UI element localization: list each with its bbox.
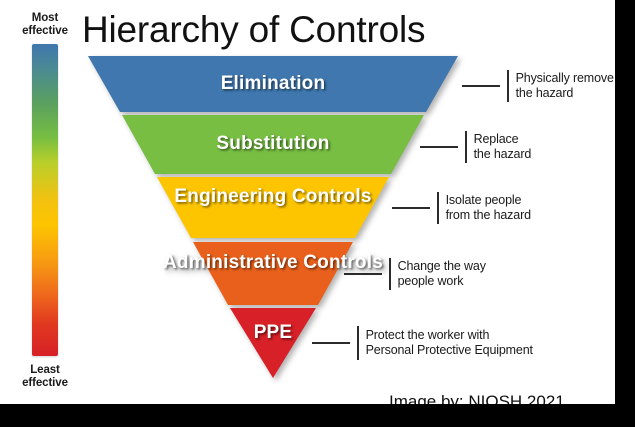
scale-label-least-effective: Least effective bbox=[14, 364, 76, 390]
gradient-scale-icon bbox=[32, 44, 58, 356]
leader-line-icon bbox=[392, 207, 430, 208]
leader-line-icon bbox=[312, 342, 350, 343]
leader-line-icon bbox=[420, 146, 458, 147]
pyramid-layer-substitution-label: Substitution bbox=[88, 133, 458, 155]
pyramid-layer-elimination[interactable]: Elimination bbox=[88, 56, 458, 112]
annotation-ppe-line2: Personal Protective Equipment bbox=[366, 343, 533, 358]
annotation-administrative-controls-line1: Change the way bbox=[398, 259, 486, 274]
pyramid-layer-engineering-controls-label-line2: Controls bbox=[292, 186, 372, 207]
figure-plate: Hierarchy of Controls Most effective Lea… bbox=[0, 0, 615, 404]
pyramid-layer-substitution-label-line1: Substitution bbox=[216, 133, 329, 154]
annotation-ppe: Protect the worker with Personal Protect… bbox=[312, 326, 533, 360]
page-title: Hierarchy of Controls bbox=[82, 9, 425, 51]
annotation-administrative-controls-text: Change the way people work bbox=[398, 259, 486, 289]
annotation-bar-icon bbox=[357, 326, 359, 360]
scale-label-least-effective-line2: effective bbox=[22, 377, 68, 389]
leader-line-icon bbox=[462, 85, 500, 86]
annotation-substitution-line1: Replace bbox=[474, 132, 532, 147]
figure-canvas: Hierarchy of Controls Most effective Lea… bbox=[0, 0, 635, 427]
annotation-engineering-controls: Isolate people from the hazard bbox=[392, 192, 531, 224]
image-credit: Image by: NIOSH 2021 bbox=[389, 392, 565, 404]
letterbox-bar-bottom bbox=[0, 404, 635, 427]
annotation-engineering-controls-text: Isolate people from the hazard bbox=[446, 193, 531, 223]
annotation-engineering-controls-line1: Isolate people bbox=[446, 193, 531, 208]
leader-line-icon bbox=[344, 273, 382, 274]
scale-label-most-effective: Most effective bbox=[14, 12, 76, 38]
pyramid-layer-elimination-label: Elimination bbox=[88, 73, 458, 95]
annotation-administrative-controls: Change the way people work bbox=[344, 258, 486, 290]
scale-label-most-effective-line2: effective bbox=[22, 25, 68, 37]
annotation-administrative-controls-line2: people work bbox=[398, 274, 486, 289]
annotation-substitution: Replace the hazard bbox=[420, 131, 531, 163]
pyramid-layer-engineering-controls-label-line1: Engineering bbox=[174, 186, 286, 207]
scale-label-most-effective-line1: Most bbox=[32, 12, 58, 24]
annotation-elimination: Physically remove the hazard bbox=[462, 70, 614, 102]
annotation-ppe-text: Protect the worker with Personal Protect… bbox=[366, 328, 533, 358]
annotation-substitution-text: Replace the hazard bbox=[474, 132, 532, 162]
annotation-bar-icon bbox=[507, 70, 509, 102]
annotation-substitution-line2: the hazard bbox=[474, 147, 532, 162]
annotation-elimination-text: Physically remove the hazard bbox=[516, 71, 614, 101]
annotation-ppe-line1: Protect the worker with bbox=[366, 328, 533, 343]
scale-label-least-effective-line1: Least bbox=[30, 364, 60, 376]
pyramid-layer-elimination-label-line1: Elimination bbox=[221, 73, 326, 94]
annotation-engineering-controls-line2: from the hazard bbox=[446, 208, 531, 223]
annotation-elimination-line1: Physically remove bbox=[516, 71, 614, 86]
annotation-elimination-line2: the hazard bbox=[516, 86, 614, 101]
pyramid-layer-substitution[interactable]: Substitution bbox=[88, 115, 458, 174]
annotation-bar-icon bbox=[465, 131, 467, 163]
pyramid-layer-administrative-controls-label-line1: Administrative bbox=[163, 252, 298, 273]
annotation-bar-icon bbox=[437, 192, 439, 224]
effectiveness-scale: Most effective Least effective bbox=[14, 12, 76, 394]
pyramid-layer-ppe-label-line1: PPE bbox=[254, 322, 293, 343]
letterbox-bar-right bbox=[615, 0, 635, 427]
annotation-bar-icon bbox=[389, 258, 391, 290]
